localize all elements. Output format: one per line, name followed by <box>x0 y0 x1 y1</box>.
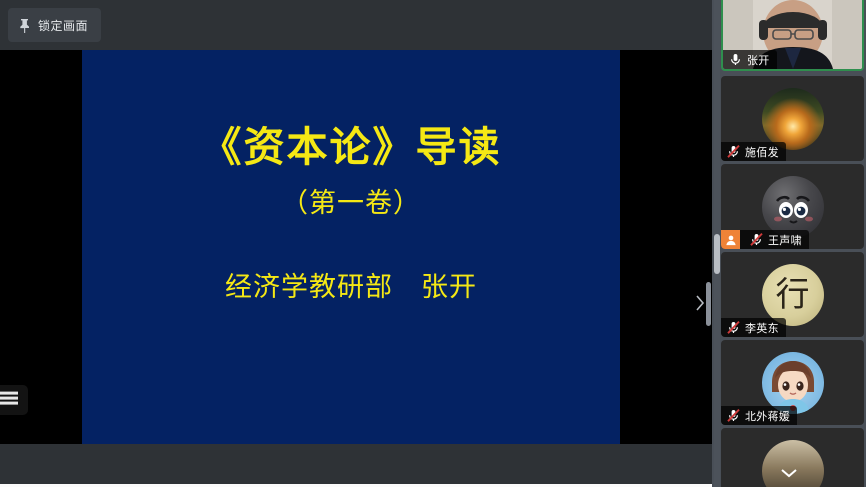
mic-off-icon <box>726 144 741 159</box>
participant-tile[interactable]: 施佰发 <box>721 76 864 161</box>
participant-namebar: 李英东 <box>721 318 786 337</box>
mic-on-icon <box>728 52 743 67</box>
sunset-landscape-avatar <box>762 88 824 150</box>
dark-cartoon-avatar <box>762 176 824 238</box>
scroll-down-button[interactable] <box>779 466 799 478</box>
lock-screen-label: 锁定画面 <box>38 17 88 34</box>
slide-title: 《资本论》导读 <box>201 127 502 168</box>
participant-namebar: 北外蒋媛 <box>721 406 797 425</box>
participant-tile[interactable]: 行 李英东 <box>721 252 864 337</box>
participant-name: 张开 <box>747 52 770 68</box>
participant-panel: 张开 施佰发 <box>712 0 866 487</box>
participant-tile[interactable]: 张开 <box>721 0 864 71</box>
participant-tile[interactable]: 王声啸 <box>721 164 864 249</box>
bottom-toolbar <box>0 444 712 487</box>
slide-subtitle: （第一卷） <box>281 190 421 217</box>
list-view-button[interactable] <box>0 385 28 415</box>
photo-avatar <box>762 440 824 487</box>
anime-girl-avatar <box>762 352 824 414</box>
mic-off-icon <box>726 408 741 423</box>
participant-name: 北外蒋媛 <box>745 408 790 424</box>
collapse-panel-button[interactable] <box>694 294 706 312</box>
participant-namebar: 王声啸 <box>721 230 809 249</box>
xing-calligraphy-avatar: 行 <box>762 264 824 326</box>
meeting-stage: 锁定画面 《资本论》导读 （第一卷） 经济学教研部 张开 <box>0 0 712 487</box>
participant-name: 李英东 <box>745 320 779 336</box>
slide-byline: 经济学教研部 张开 <box>225 274 477 301</box>
participant-name: 施佰发 <box>745 144 779 160</box>
lock-screen-button[interactable]: 锁定画面 <box>8 8 101 42</box>
list-view-icon <box>0 390 20 411</box>
participant-namebar: 张开 <box>723 50 777 69</box>
mic-off-icon <box>749 232 764 247</box>
mic-off-icon <box>726 320 741 335</box>
participant-tile[interactable]: 北外蒋媛 <box>721 340 864 425</box>
stage-scrollbar[interactable] <box>706 282 711 326</box>
participant-namebar: 施佰发 <box>721 142 786 161</box>
shared-screen-area[interactable]: 《资本论》导读 （第一卷） 经济学教研部 张开 <box>0 50 712 444</box>
top-toolbar: 锁定画面 <box>0 0 712 50</box>
participant-scrollbar-thumb[interactable] <box>714 234 720 274</box>
host-badge-icon <box>721 230 740 249</box>
pin-icon <box>18 18 31 33</box>
presentation-slide: 《资本论》导读 （第一卷） 经济学教研部 张开 <box>82 50 620 444</box>
participant-name: 王声啸 <box>768 232 802 248</box>
meeting-window: 锁定画面 《资本论》导读 （第一卷） 经济学教研部 张开 <box>0 0 866 487</box>
